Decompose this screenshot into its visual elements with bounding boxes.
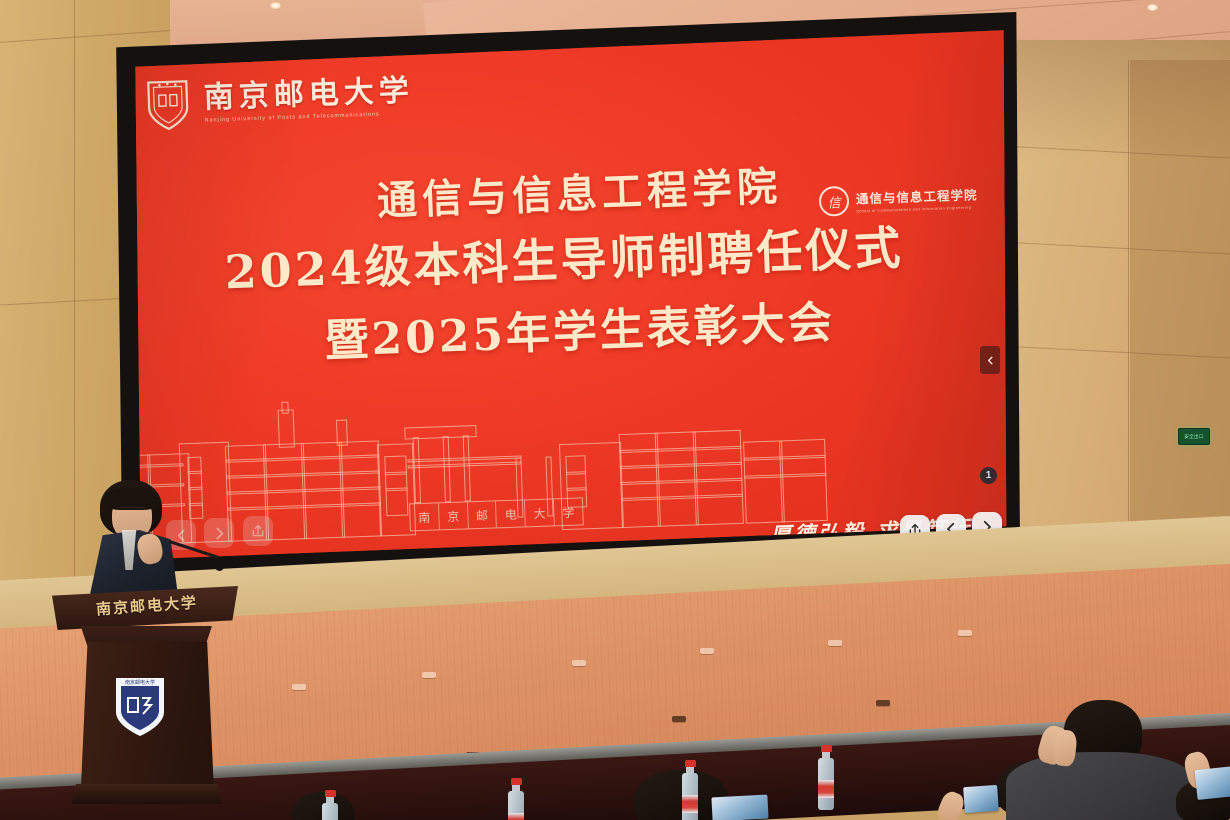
led-screen: 南京邮电大学 Nanjing University of Posts and T… (108, 12, 1020, 582)
podium-base (70, 784, 222, 804)
svg-text:南京邮电大学: 南京邮电大学 (125, 679, 155, 686)
floor-insert (700, 648, 714, 654)
page-badge: 1 (980, 467, 997, 484)
floor-insert (958, 630, 972, 636)
downlight (1147, 4, 1158, 11)
podium: 南京邮电大学 南京邮电大学 (52, 586, 238, 820)
audience-shoulders (1006, 752, 1196, 820)
bottle-body (322, 803, 338, 820)
floor-insert (572, 660, 586, 666)
bottle-cap (511, 778, 522, 785)
water-bottle (818, 745, 834, 798)
speaker-glasses (118, 507, 146, 516)
bottle-label (818, 780, 834, 798)
floor-insert (292, 684, 306, 690)
downlight (270, 2, 281, 9)
slide-content: 南京邮电大学 Nanjing University of Posts and T… (108, 12, 1020, 582)
name-placard (1195, 766, 1230, 800)
floor-insert (422, 672, 436, 678)
share-button-ghost[interactable] (243, 516, 273, 546)
exit-sign-label: 安全出口 (1184, 434, 1204, 440)
bottle-label (508, 813, 524, 820)
exit-sign: 安全出口 (1178, 428, 1210, 445)
name-placard (711, 795, 768, 820)
wall-shadow (1000, 40, 1230, 160)
water-bottle (322, 790, 338, 820)
microphone-head (215, 562, 224, 571)
njupt-shield-icon: 南京邮电大学 (114, 676, 166, 738)
sidebar-toggle-button[interactable] (980, 346, 1000, 374)
water-bottle (508, 778, 524, 820)
slide-vignette (108, 12, 1020, 582)
bottle-cap (685, 760, 696, 767)
bottle-label (682, 795, 698, 813)
floor-insert (828, 640, 842, 646)
water-bottle (682, 760, 698, 813)
speaker-person (74, 480, 184, 592)
name-placard (963, 785, 999, 813)
floor-insert (876, 700, 890, 706)
floor-insert (672, 716, 686, 722)
bottle-cap (821, 745, 832, 752)
bottle-cap (325, 790, 336, 797)
next-button-ghost[interactable] (204, 518, 234, 548)
screenshot-root: 安全出口 南京邮电大学 N (0, 0, 1230, 820)
